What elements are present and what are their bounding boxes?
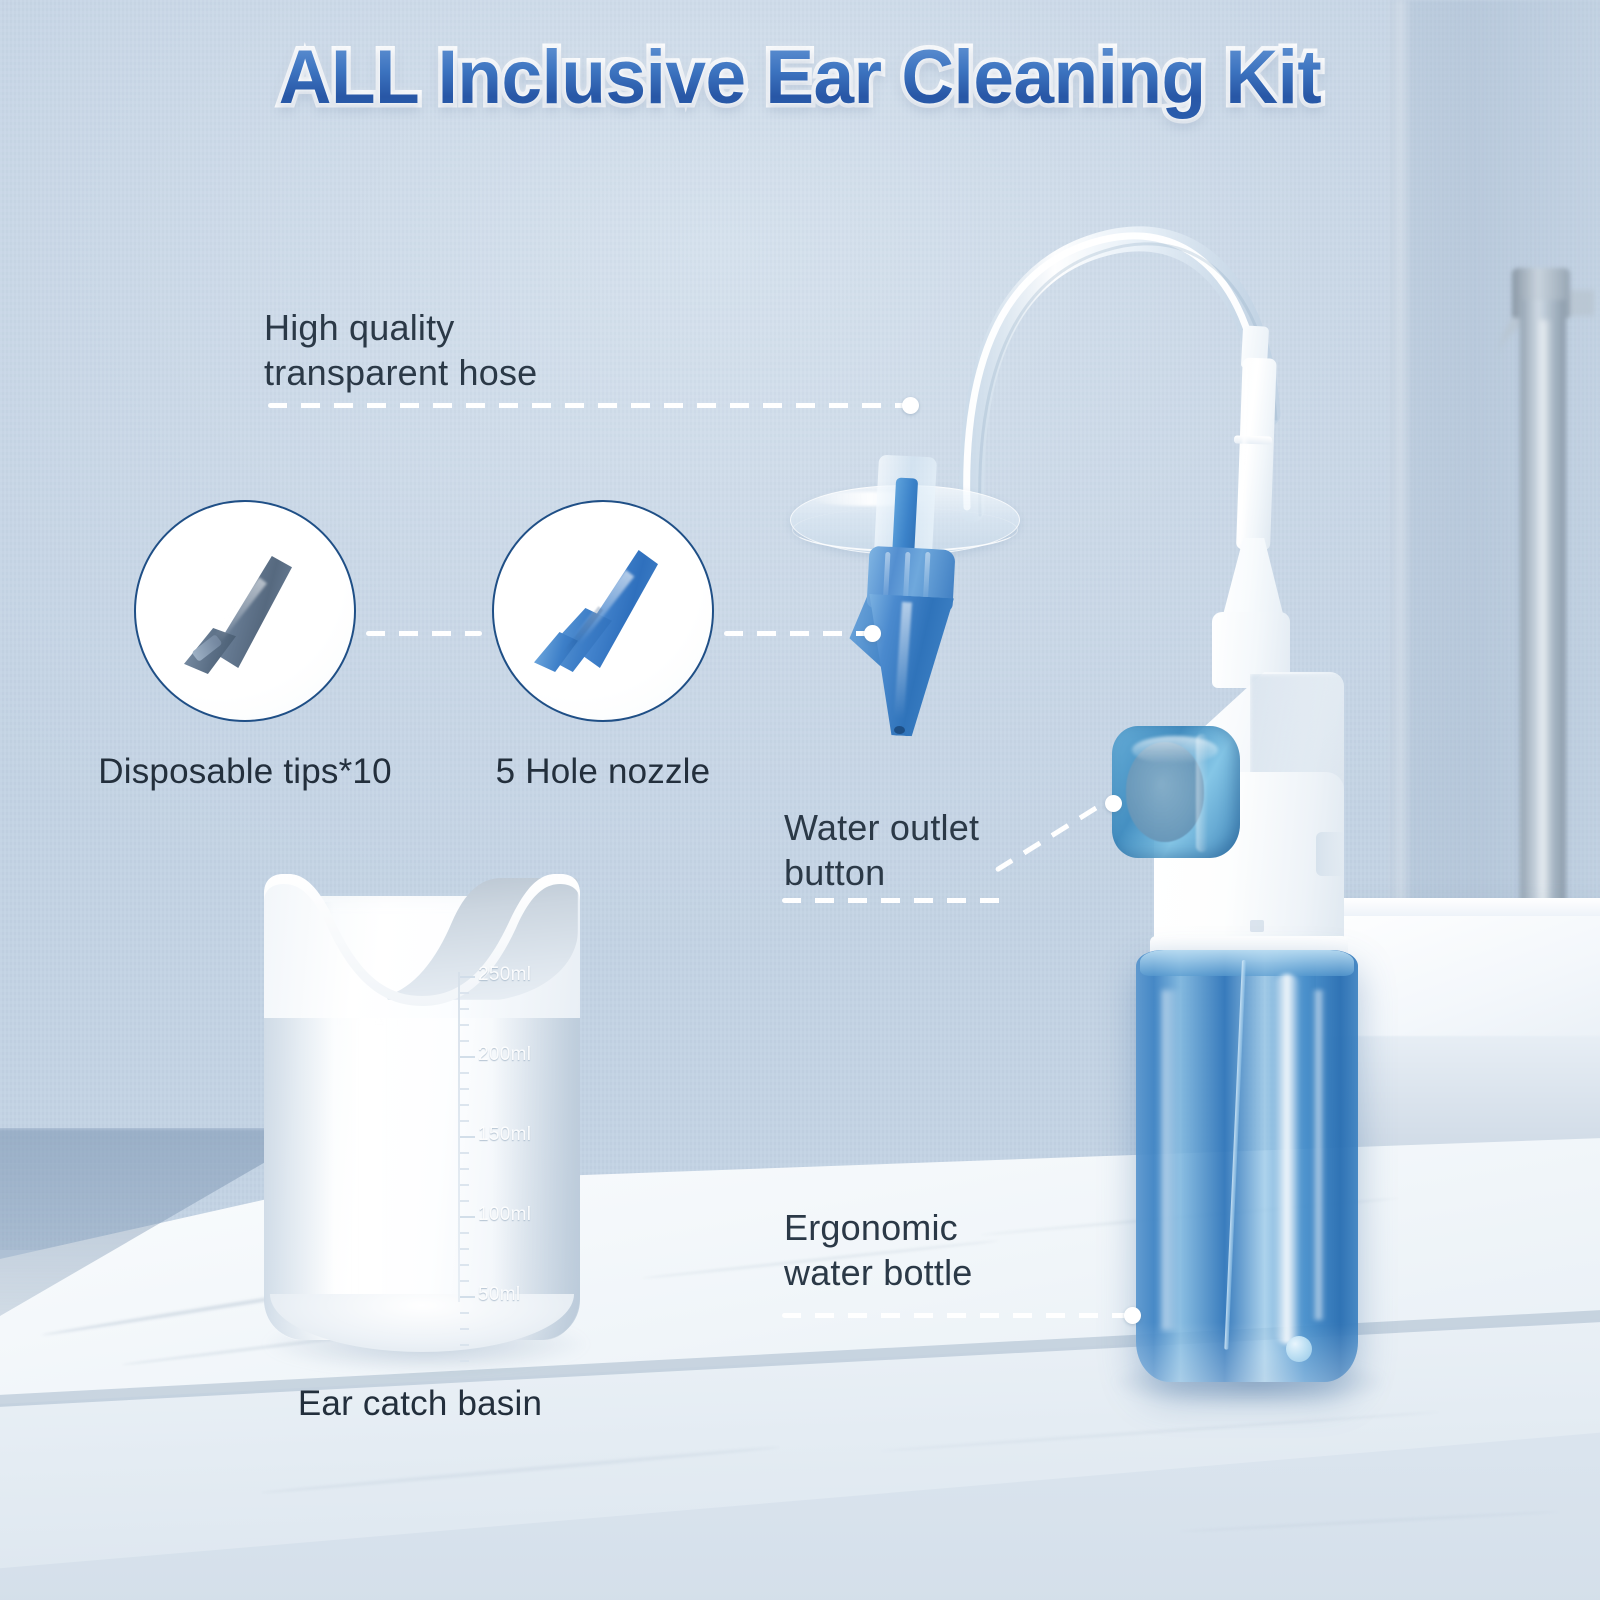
- scale-tick-minor: [460, 1264, 469, 1266]
- leader-dot-nozzle: [864, 625, 881, 642]
- bottle-bottom-sheen: [1136, 1322, 1358, 1382]
- leader-dot-button: [1105, 795, 1122, 812]
- bottle-neck-rim: [1140, 950, 1354, 976]
- scale-tick-minor: [460, 1232, 469, 1234]
- scale-tick-minor: [460, 992, 469, 994]
- faucet-highlight: [1540, 320, 1552, 920]
- scale-tick-major: [460, 1136, 475, 1138]
- scale-tick-minor: [460, 1104, 469, 1106]
- scale-tick-minor: [460, 1200, 469, 1202]
- scale-label-250: 250ml: [478, 964, 531, 986]
- water-bottle: [1136, 950, 1358, 1382]
- bottle-draw-tube: [1224, 960, 1246, 1350]
- scale-tick-minor: [460, 1072, 469, 1074]
- leader-line-tips-to-nozzle: [366, 631, 482, 636]
- circle-disposable-tips[interactable]: [134, 500, 356, 722]
- leader-line-button-horizontal: [782, 898, 1008, 903]
- scale-tick-minor: [460, 1328, 469, 1330]
- scale-tick-minor: [460, 1120, 469, 1122]
- scale-tick-minor: [460, 1312, 469, 1314]
- wall-panel-right: [1390, 0, 1600, 1040]
- scale-tick-minor: [460, 1088, 469, 1090]
- scale-tick-minor: [460, 1184, 469, 1186]
- bottle-highlight-left: [1162, 990, 1180, 1330]
- wand-step-ring: [1234, 435, 1272, 444]
- scale-tick-minor: [460, 1168, 469, 1170]
- scale-label-50: 50ml: [478, 1284, 520, 1306]
- callout-label-hose: High quality transparent hose: [264, 305, 537, 395]
- scale-tick-major: [460, 976, 475, 978]
- basin-measurement-scale: 250ml 200ml 150ml 100ml 50ml: [458, 968, 568, 1308]
- disposable-tip-icon: [178, 550, 298, 676]
- caption-five-hole-nozzle: 5 Hole nozzle: [483, 752, 723, 792]
- circle-five-hole-nozzle[interactable]: [492, 500, 714, 722]
- scale-label-100: 100ml: [478, 1204, 531, 1226]
- scale-tick-minor: [460, 1008, 469, 1010]
- five-hole-nozzle-icon: [534, 546, 670, 682]
- scale-tick-major: [460, 1056, 475, 1058]
- leader-dot-bottle: [1124, 1307, 1141, 1324]
- water-outlet-button-ridge: [1196, 734, 1208, 852]
- scale-tick-minor: [460, 1360, 469, 1362]
- scale-tick-minor: [460, 1040, 469, 1042]
- scale-tick-minor: [460, 1344, 469, 1346]
- scale-tick-minor: [460, 1152, 469, 1154]
- scale-tick-minor: [460, 1280, 469, 1282]
- bottle-highlight-center: [1274, 974, 1300, 1344]
- scale-label-150: 150ml: [478, 1124, 531, 1146]
- pump-head-notch: [1316, 832, 1344, 876]
- leader-line-nozzle-to-device: [724, 631, 870, 636]
- basin-gloss-highlight: [342, 1012, 396, 1312]
- scale-tick-major: [460, 1296, 475, 1298]
- pump-head-seam: [1250, 920, 1264, 932]
- scale-tick-major: [460, 1216, 475, 1218]
- leader-line-hose: [268, 403, 908, 408]
- scale-label-200: 200ml: [478, 1044, 531, 1066]
- scale-tick-minor: [460, 1024, 469, 1026]
- bottle-highlight-right: [1312, 990, 1325, 1320]
- scale-tick-minor: [460, 1248, 469, 1250]
- page-title: ALL Inclusive Ear Cleaning Kit: [32, 34, 1568, 121]
- leader-dot-hose: [902, 397, 919, 414]
- caption-ear-catch-basin: Ear catch basin: [230, 1384, 610, 1424]
- caption-disposable-tips: Disposable tips*10: [85, 752, 405, 792]
- leader-line-bottle: [782, 1313, 1134, 1318]
- callout-label-water-outlet-button: Water outlet button: [784, 805, 979, 895]
- callout-label-ergonomic-bottle: Ergonomic water bottle: [784, 1205, 973, 1295]
